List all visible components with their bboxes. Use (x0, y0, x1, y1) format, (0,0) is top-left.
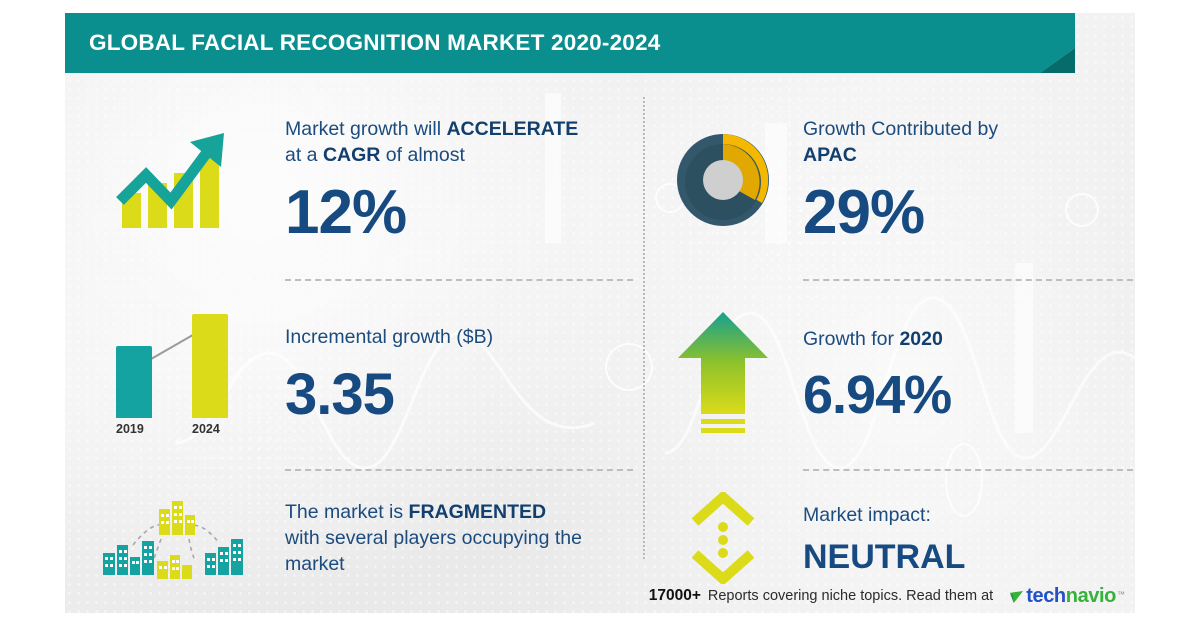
left-divider-2 (285, 469, 633, 471)
growth-arrow-bar-chart-icon (65, 97, 285, 262)
apac-block: Growth Contributed by APAC 29% (643, 97, 1135, 262)
apac-text: Growth Contributed by APAC 29% (803, 116, 1135, 244)
cagr-line2-plain-a: at a (285, 144, 323, 166)
apac-bold: APAC (803, 144, 857, 166)
page-title: GLOBAL FACIAL RECOGNITION MARKET 2020-20… (89, 13, 660, 73)
technavio-logo-trademark: ™ (1117, 590, 1125, 599)
bar-label-2024: 2024 (192, 422, 220, 436)
up-arrow-icon (643, 299, 803, 449)
fragmentation-line1-plain: The market is (285, 501, 409, 523)
fragmentation-line-1: The market is FRAGMENTED (285, 499, 643, 525)
infographic-canvas: GLOBAL FACIAL RECOGNITION MARKET 2020-20… (0, 0, 1200, 627)
technavio-logo-navio: navio (1066, 585, 1116, 608)
growth-2020-label: Growth for 2020 (803, 326, 1135, 352)
growth-2020-value: 6.94% (803, 368, 1135, 422)
bar-2019 (116, 346, 152, 418)
incremental-growth-block: 2019 2024 Incremental growth ($B) 3.35 (65, 299, 643, 449)
bar-label-2019: 2019 (116, 422, 144, 436)
fragmentation-block: The market is FRAGMENTED with several pl… (65, 485, 643, 590)
market-impact-value: NEUTRAL (803, 540, 1135, 574)
donut-chart-icon (643, 97, 803, 262)
incremental-growth-text: Incremental growth ($B) 3.35 (285, 324, 643, 424)
market-impact-block: Market impact: NEUTRAL (643, 485, 1135, 590)
cagr-text: Market growth will ACCELERATE at a CAGR … (285, 116, 643, 244)
cagr-line2-plain-b: of almost (380, 144, 465, 166)
left-divider-1 (285, 279, 633, 281)
cagr-line-1: Market growth will ACCELERATE (285, 116, 643, 142)
up-down-chevron-dots-icon (643, 485, 803, 590)
technavio-logo-tech: tech (1026, 585, 1066, 608)
cagr-block: Market growth will ACCELERATE at a CAGR … (65, 97, 643, 262)
apac-line-1: Growth Contributed by (803, 116, 1135, 142)
cagr-bold: CAGR (323, 144, 380, 166)
footer-report-count: 17000+ (649, 587, 701, 605)
technavio-logo[interactable]: tech navio ™ (1009, 585, 1125, 608)
cagr-line-2: at a CAGR of almost (285, 142, 643, 168)
cagr-accelerate-bold: ACCELERATE (446, 118, 578, 140)
market-impact-text: Market impact: NEUTRAL (803, 502, 1135, 574)
infographic-panel: GLOBAL FACIAL RECOGNITION MARKET 2020-20… (65, 13, 1135, 613)
left-column: Market growth will ACCELERATE at a CAGR … (65, 73, 643, 573)
incremental-growth-label: Incremental growth ($B) (285, 324, 643, 350)
two-bar-comparison-icon: 2019 2024 (65, 299, 285, 449)
incremental-growth-value: 3.35 (285, 366, 643, 424)
growth-2020-year: 2020 (899, 328, 942, 350)
fragmentation-text: The market is FRAGMENTED with several pl… (285, 499, 643, 577)
fragmentation-line-3: market (285, 551, 643, 577)
bar-2024 (192, 314, 228, 418)
growth-2020-block: Growth for 2020 6.94% (643, 299, 1135, 449)
footer-text: Reports covering niche topics. Read them… (708, 588, 993, 604)
right-divider-1 (803, 279, 1133, 281)
city-buildings-network-icon (65, 485, 285, 590)
fragmented-bold: FRAGMENTED (409, 501, 547, 523)
cagr-line1-plain: Market growth will (285, 118, 446, 140)
growth-2020-text: Growth for 2020 6.94% (803, 326, 1135, 422)
cagr-value: 12% (285, 182, 643, 244)
right-column: Growth Contributed by APAC 29% (643, 73, 1135, 573)
market-impact-label: Market impact: (803, 502, 1135, 528)
apac-value: 29% (803, 182, 1135, 244)
right-divider-2 (803, 469, 1133, 471)
footer: 17000+ Reports covering niche topics. Re… (65, 576, 1135, 616)
technavio-flag-icon (1009, 590, 1024, 605)
fragmentation-line-2: with several players occupying the (285, 525, 643, 551)
growth-2020-label-plain: Growth for (803, 328, 899, 350)
apac-line-2: APAC (803, 142, 1135, 168)
content-columns: Market growth will ACCELERATE at a CAGR … (65, 73, 1135, 573)
